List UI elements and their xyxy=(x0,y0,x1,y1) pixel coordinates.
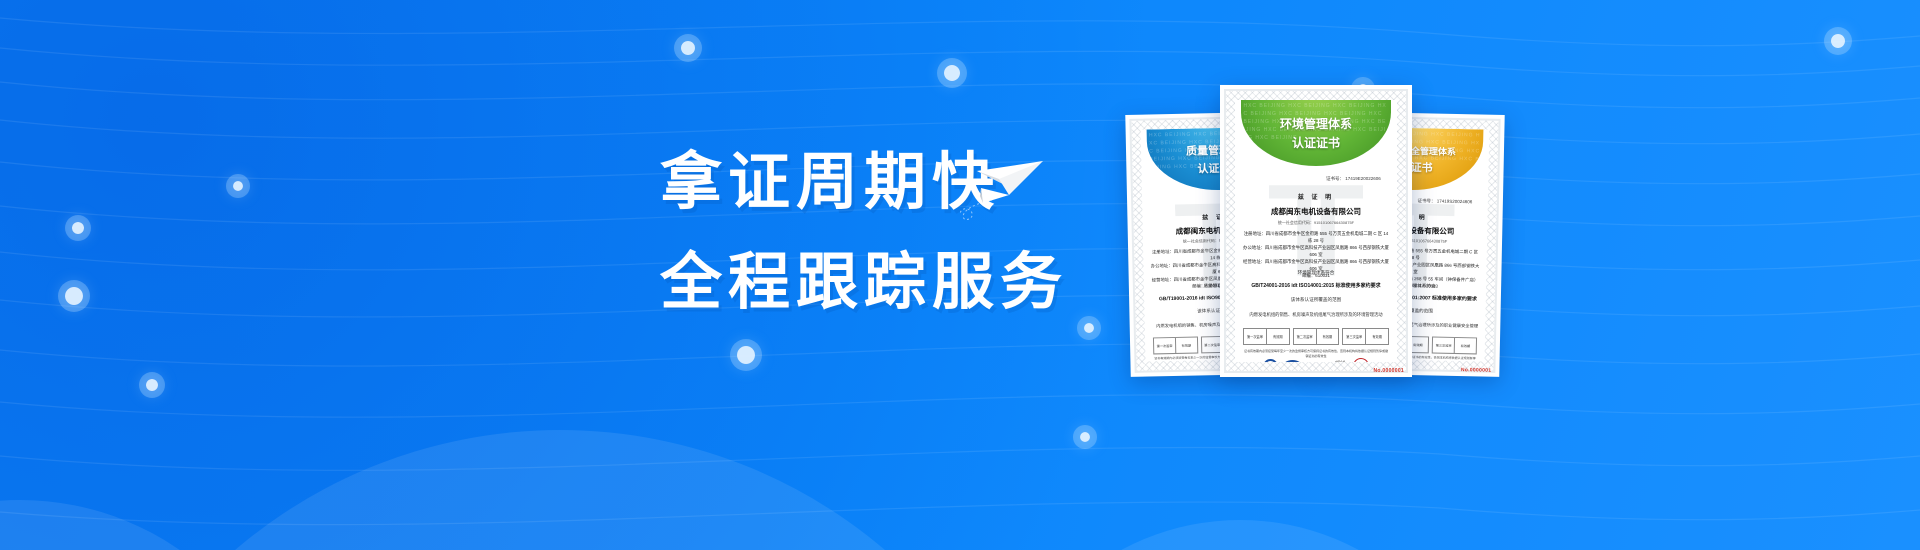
iaf-icon: IAF xyxy=(1283,360,1302,362)
audit-label: 第一次监审 xyxy=(1244,329,1267,344)
certificate-company: 成都闽东电机设备有限公司 xyxy=(1235,206,1397,217)
headline-line-2: 全程跟踪服务 xyxy=(660,240,1068,326)
certificate-number: No.0000001 xyxy=(1373,368,1404,374)
certificate-title-line1: 环境管理体系 xyxy=(1280,115,1352,132)
decor-dot xyxy=(146,379,158,391)
audit-valid: 有效期 xyxy=(1176,338,1197,353)
audit-box: 第一次监审 有效期 xyxy=(1243,328,1290,345)
address-line: 注册地址：四川省成都市金牛区金府路 555 号万贯五金机电城二期 C 区 14 … xyxy=(1241,230,1391,244)
audit-label: 第一次监审 xyxy=(1154,338,1176,353)
audit-valid: 有效期 xyxy=(1317,329,1339,344)
decor-dot xyxy=(233,181,243,191)
audit-box: 第一次监审 有效期 xyxy=(1153,337,1198,355)
decor-dot xyxy=(1080,432,1090,442)
decor-dot xyxy=(737,346,755,364)
certificate-scope: 内燃发电机组的销售、机房噪声及机组尾气治理所涉及的环境管理活动 xyxy=(1235,312,1397,318)
cnas-note: 中国合格评定国家认可委员会 xyxy=(1335,361,1348,362)
promo-banner: 拿证周期快 全程跟踪服务 HXC BEIJING HXC BEIJING HXC… xyxy=(0,0,1920,550)
certificate-serial: 证书号： 17419E20022606 xyxy=(1326,176,1381,182)
cnas-icon: CNAS xyxy=(1307,362,1330,363)
background-circle-large xyxy=(60,430,1060,550)
certificate-note: 证书有效期内必须接受每年至少一次的监督审核方可保持证书的有效性，否则本机构将依据… xyxy=(1235,349,1397,358)
certificate-environment[interactable]: HXC BEIJING HXC BEIJING HXC BEIJING HXC … xyxy=(1220,85,1412,377)
certificates-group: HXC BEIJING HXC BEIJING HXC BEIJING HXC … xyxy=(1120,85,1540,385)
certificate-number: No.0000001 xyxy=(1461,367,1492,374)
certificate-system-label: 环境管理体系符合 xyxy=(1235,270,1397,276)
certificate-certify-label: 兹 证 明 xyxy=(1235,192,1397,201)
decor-dot xyxy=(944,65,960,81)
decor-dot xyxy=(72,222,84,234)
paper-airplane-icon xyxy=(975,155,1045,215)
audit-box: 第三次监审 有效期 xyxy=(1342,328,1389,345)
certificate-serial: 证书号： 17419S20024606 xyxy=(1417,198,1472,205)
audit-valid: 有效期 xyxy=(1455,338,1476,353)
decor-dot xyxy=(1084,323,1094,333)
decor-dot xyxy=(1831,34,1845,48)
audit-box: 第二次监审 有效期 xyxy=(1293,328,1340,345)
cnca-icon: 国 xyxy=(1263,359,1278,363)
certificate-title-line2: 认证证书 xyxy=(1292,134,1340,151)
audit-label: 第三次监审 xyxy=(1433,338,1455,353)
banner-watermark-text: HXC BEIJING HXC BEIJING HXC BEIJING HXC … xyxy=(1241,100,1390,166)
audit-box: 第三次监审 有效期 xyxy=(1432,337,1477,355)
certificate-credit-code: 统一社会信用代码：91510106766430875F xyxy=(1235,220,1397,226)
audit-valid: 有效期 xyxy=(1366,329,1388,344)
certificate-title-banner: HXC BEIJING HXC BEIJING HXC BEIJING HXC … xyxy=(1241,100,1390,166)
audit-label: 第三次监审 xyxy=(1343,329,1366,344)
certificate-standard: GB/T24001-2016 idt ISO14001:2015 标准使用多家约… xyxy=(1235,282,1397,289)
decor-dot xyxy=(65,287,83,305)
seal-icon xyxy=(1351,357,1370,362)
background-circle-right xyxy=(990,520,1490,550)
decor-dot xyxy=(681,41,695,55)
address-line: 办公地址：四川省成都市金牛区高科技产业园区凤凰路 866 号西部钢铁大厦 606… xyxy=(1241,244,1391,258)
audit-valid: 有效期 xyxy=(1267,329,1289,344)
audit-label: 第二次监审 xyxy=(1294,329,1317,344)
certificate-scope-label: 该体系认证所覆盖的范围 xyxy=(1235,297,1397,303)
